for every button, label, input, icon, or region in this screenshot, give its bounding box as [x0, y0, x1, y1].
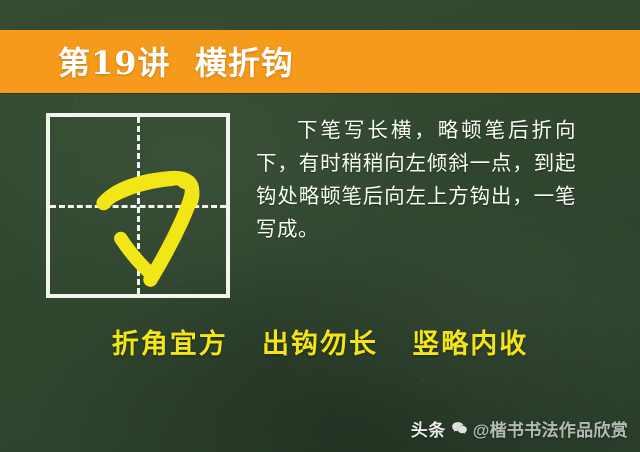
chat-bubble-icon — [451, 420, 468, 437]
watermark-handle: @楷书书法作品欣赏 — [473, 416, 628, 441]
watermark: 头条 @楷书书法作品欣赏 — [411, 416, 628, 441]
key-points-line: 折角宜方 出钩勿长 竖略内收 — [0, 322, 640, 361]
watermark-brand: 头条 — [411, 416, 446, 441]
character-practice-frame — [46, 113, 230, 298]
stroke-glyph-heng-zhe-gou — [50, 117, 226, 294]
slide-canvas: 第19讲 横折钩 下笔写长横，略顿笔后折向下，有时稍稍向左倾斜一点，到起钩处略顿… — [0, 0, 640, 452]
title-banner: 第19讲 横折钩 — [0, 30, 640, 93]
page-title: 第19讲 横折钩 — [58, 38, 294, 84]
stroke-description: 下笔写长横，略顿笔后折向下，有时稍稍向左倾斜一点，到起钩处略顿笔后向左上方钩出，… — [256, 114, 576, 246]
